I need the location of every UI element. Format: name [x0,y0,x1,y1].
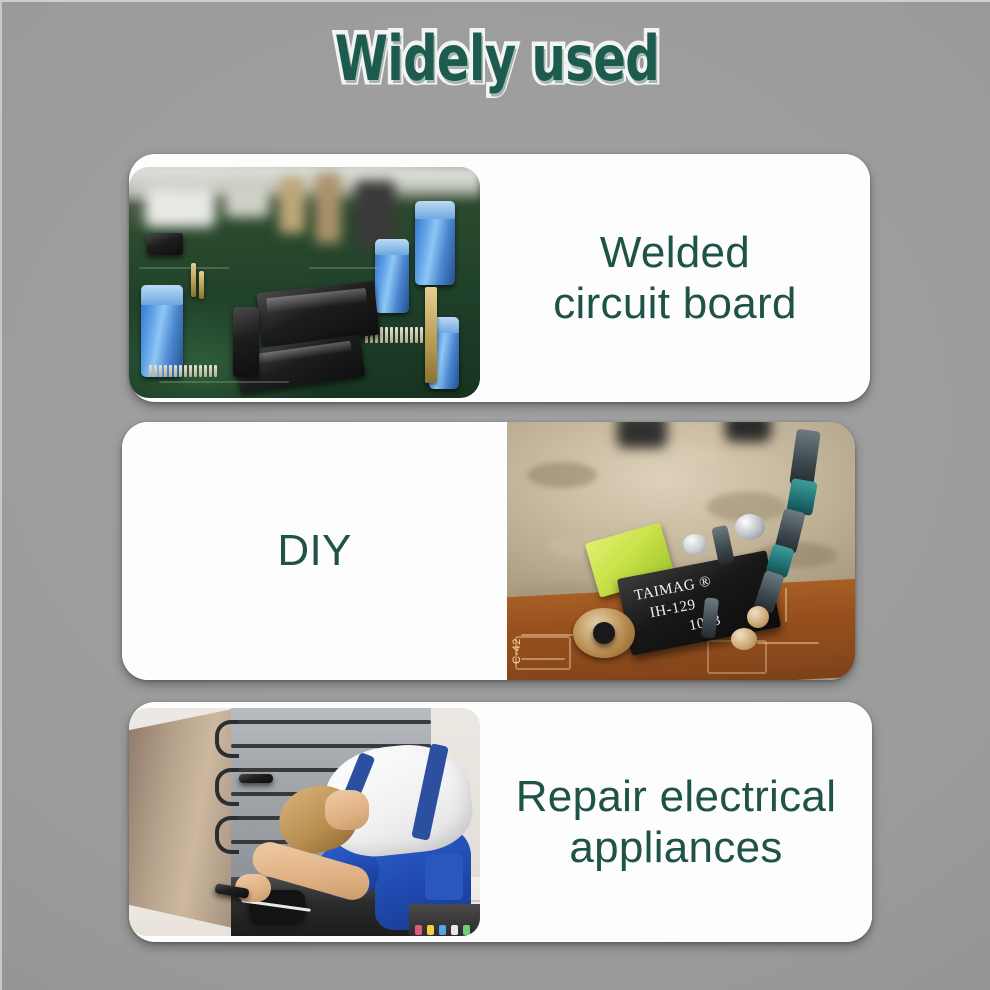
card-diy[interactable]: DIY C-42 [122,422,855,680]
floor-speckle-2 [627,446,717,468]
condenser-coil-bend-2 [215,768,239,806]
pcb-trace-1 [139,267,229,269]
pcb-trace-3 [309,267,379,269]
card-label-line2: circuit board [553,279,797,328]
welded-circuit-board-photo [129,167,480,398]
pcb-silkscreen-5 [785,588,787,622]
capacitor-blue-right [415,201,455,285]
condenser-coil-bend-3 [215,816,239,854]
photo-bokeh-4 [315,173,341,243]
coil-core-dark [593,622,615,644]
robot-joint-bead-2 [731,628,757,650]
tool-item-2 [427,925,434,935]
photo-bokeh-3 [279,177,305,233]
tool-item-5 [463,925,470,935]
page-title: Widely used [335,28,659,90]
poster-canvas: Widely used [0,0,990,990]
card-repair-electrical-appliances[interactable]: Repair electrical appliances [129,702,872,942]
card-label-line2: appliances [569,823,782,872]
ic-chip-main [257,281,380,347]
gold-pin-2 [199,271,204,299]
coil-clamp [239,774,273,783]
photo-bokeh-1 [145,187,215,227]
card-welded-circuit-board[interactable]: Welded circuit board [129,154,870,402]
technician-pocket [425,854,463,900]
page-title-container: Widely used [2,28,990,90]
photo-bokeh-2 [225,181,269,217]
card-label-line1: Repair electrical [516,772,837,821]
card-label: Welded circuit board [553,227,797,329]
tool-item-3 [439,925,446,935]
fridge-repair-photo [129,708,480,936]
pin-header-bottom [149,365,239,377]
card-text-pane: Repair electrical appliances [480,702,872,942]
robot-shoulder-silver [683,534,707,554]
tool-item-1 [415,925,422,935]
condenser-coil-1 [231,720,431,724]
capacitor-blue-left [141,285,183,377]
pcb-trace-2 [159,381,289,383]
condenser-coil-bend-1 [215,720,239,758]
card-label-line1: Welded [600,228,750,277]
photo-bokeh-5 [355,181,395,247]
card-label: DIY [277,525,351,576]
robot-joint-bead-1 [747,606,769,628]
card-text-pane: Welded circuit board [480,154,870,402]
robot-head-silver [735,514,765,540]
technician-neck [325,790,369,830]
pcb-silkscreen-label-c42: C-42 [511,638,523,664]
diy-robot-photo: C-42 TAIMAG ® IH-129 1013 [507,422,855,680]
background-blur-object-2 [725,422,771,442]
tool-item-4 [451,925,458,935]
card-label: Repair electrical appliances [516,771,837,873]
card-text-pane: DIY [122,422,507,680]
ic-chip-small-left [147,233,183,255]
floor-speckle-1 [527,462,597,488]
capacitor-blue-center [375,239,409,313]
background-blur-object-1 [617,422,667,448]
pcb-pad-outline-1 [515,636,571,670]
open-toolbox [409,904,480,936]
card-label-line1: DIY [277,526,351,575]
